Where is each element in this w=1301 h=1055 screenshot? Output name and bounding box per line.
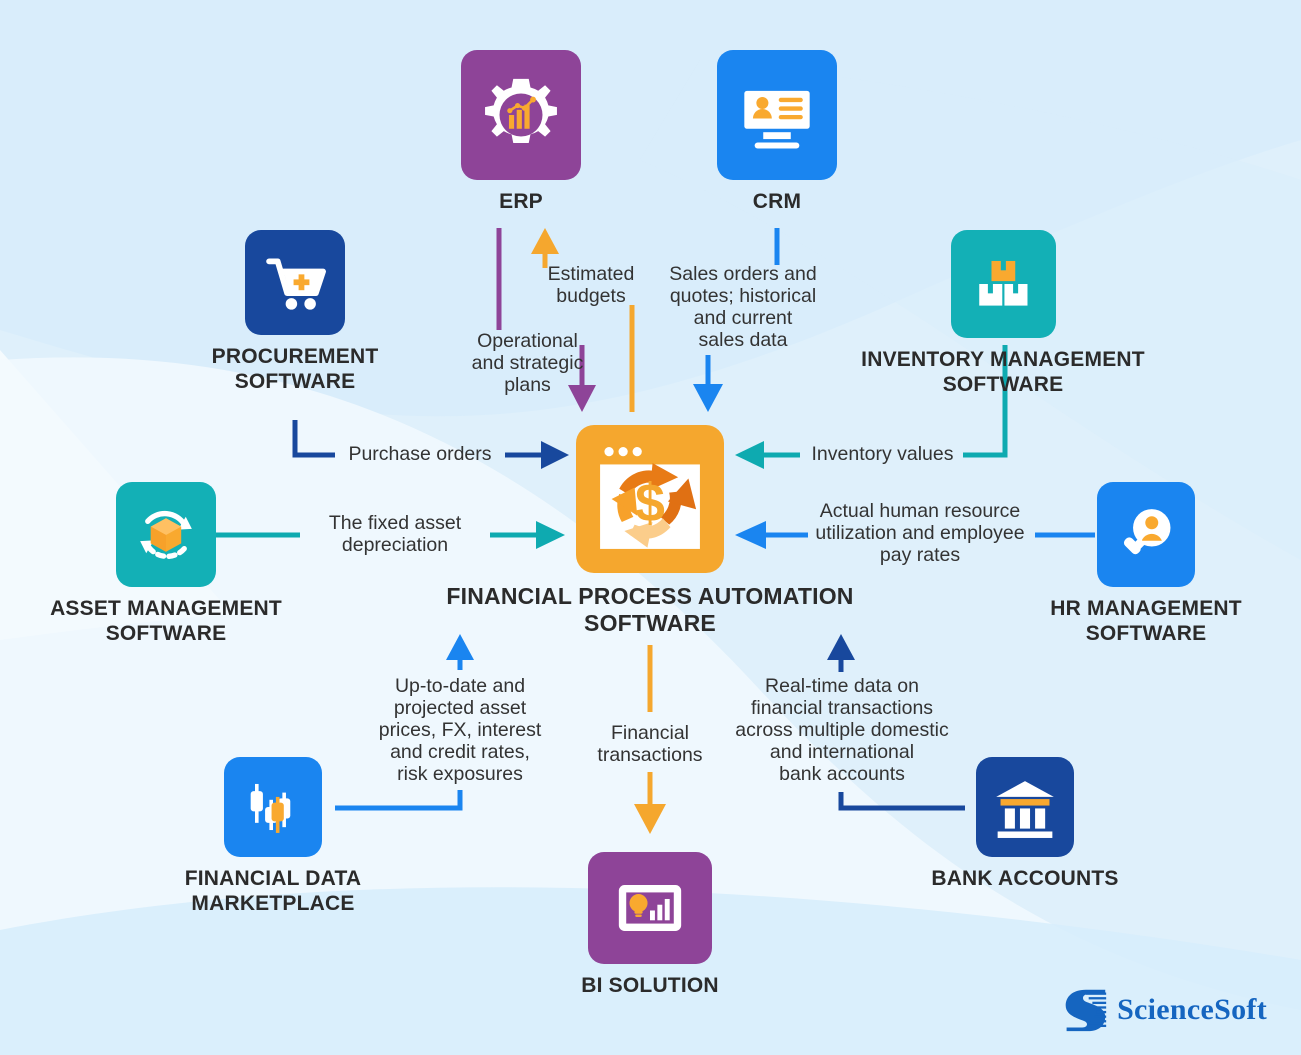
node-crm[interactable]: CRM — [677, 50, 877, 215]
crm-monitor-contact-icon — [717, 50, 837, 180]
edge-label-sales-orders: Sales orders and quotes; historical and … — [663, 263, 823, 351]
edge-label-hr-utilization: Actual human resource utilization and em… — [800, 500, 1040, 566]
node-erp[interactable]: ERP — [421, 50, 621, 215]
edge-label-operational-plans: Operational and strategic plans — [455, 330, 600, 396]
node-label-procurement: PROCUREMENT SOFTWARE — [175, 345, 415, 395]
sciencesoft-logo-icon — [1062, 987, 1108, 1033]
node-label-crm: CRM — [677, 190, 877, 215]
node-label-inventory: INVENTORY MANAGEMENT SOFTWARE — [853, 348, 1153, 398]
sciencesoft-wordmark: ScienceSoft — [1117, 993, 1267, 1027]
node-bi[interactable]: BI SOLUTION — [550, 852, 750, 999]
magnifier-person-icon — [1097, 482, 1195, 587]
node-label-hr: HR MANAGEMENT SOFTWARE — [1026, 597, 1266, 647]
edge-label-estimated-budgets: Estimated budgets — [531, 263, 651, 307]
svg-text:$: $ — [635, 473, 665, 533]
node-label-bank: BANK ACCOUNTS — [905, 867, 1145, 892]
sciencesoft-branding[interactable]: ScienceSoft — [1062, 987, 1267, 1033]
edge-label-realtime-bank-data: Real-time data on financial transactions… — [722, 675, 962, 785]
diagram-canvas: ERP CRM — [0, 0, 1301, 1055]
financial-automation-window-icon: $ — [576, 425, 724, 573]
candlestick-chart-icon — [224, 757, 322, 857]
stacked-boxes-icon — [951, 230, 1056, 338]
edge-label-financial-transactions: Financial transactions — [585, 722, 715, 766]
erp-gear-chart-icon — [461, 50, 581, 180]
node-hr[interactable]: HR MANAGEMENT SOFTWARE — [1026, 482, 1266, 647]
node-label-erp: ERP — [421, 190, 621, 215]
node-inventory[interactable]: INVENTORY MANAGEMENT SOFTWARE — [853, 230, 1153, 398]
bank-building-icon — [976, 757, 1074, 857]
edge-label-purchase-orders: Purchase orders — [330, 443, 510, 465]
edge-label-fixed-asset-depreciation: The fixed asset depreciation — [305, 512, 485, 556]
node-label-asset: ASSET MANAGEMENT SOFTWARE — [46, 597, 286, 647]
edge-label-asset-prices: Up-to-date and projected asset prices, F… — [370, 675, 550, 785]
node-asset[interactable]: ASSET MANAGEMENT SOFTWARE — [46, 482, 286, 647]
shopping-cart-plus-icon — [245, 230, 345, 335]
node-procurement[interactable]: PROCUREMENT SOFTWARE — [175, 230, 415, 395]
bi-dashboard-bulb-icon — [588, 852, 712, 964]
node-label-center: FINANCIAL PROCESS AUTOMATION SOFTWARE — [430, 583, 870, 637]
cube-refresh-icon — [116, 482, 216, 587]
edge-label-inventory-values: Inventory values — [795, 443, 970, 465]
node-marketplace[interactable]: FINANCIAL DATA MARKETPLACE — [153, 757, 393, 917]
node-label-marketplace: FINANCIAL DATA MARKETPLACE — [153, 867, 393, 917]
node-label-bi: BI SOLUTION — [550, 974, 750, 999]
